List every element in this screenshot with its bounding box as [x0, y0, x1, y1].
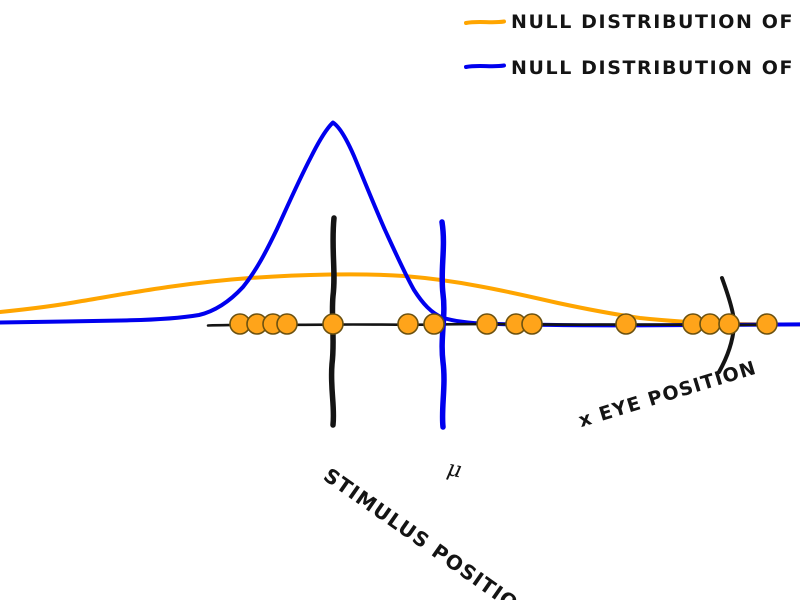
blue-line-swatch	[466, 66, 504, 68]
data-point	[719, 314, 739, 334]
data-point	[477, 314, 497, 334]
legend-label-text: NULL DISTRIBUTION OF	[511, 11, 800, 33]
data-point	[616, 314, 636, 334]
legend-entry-null-distribution-t[interactable]: NULL DISTRIBUTION OF t	[511, 55, 800, 79]
figure-canvas: NULL DISTRIBUTION OF x NULL DISTRIBUTION…	[0, 0, 800, 600]
orange-line-swatch	[466, 22, 504, 24]
legend-entry-null-distribution-x[interactable]: NULL DISTRIBUTION OF x	[511, 11, 800, 33]
data-point	[323, 314, 343, 334]
data-point	[424, 314, 444, 334]
data-point	[757, 314, 777, 334]
data-point	[398, 314, 418, 334]
legend-label-text: NULL DISTRIBUTION OF	[511, 57, 800, 79]
data-point	[277, 314, 297, 334]
data-point	[522, 314, 542, 334]
data-point	[700, 314, 720, 334]
